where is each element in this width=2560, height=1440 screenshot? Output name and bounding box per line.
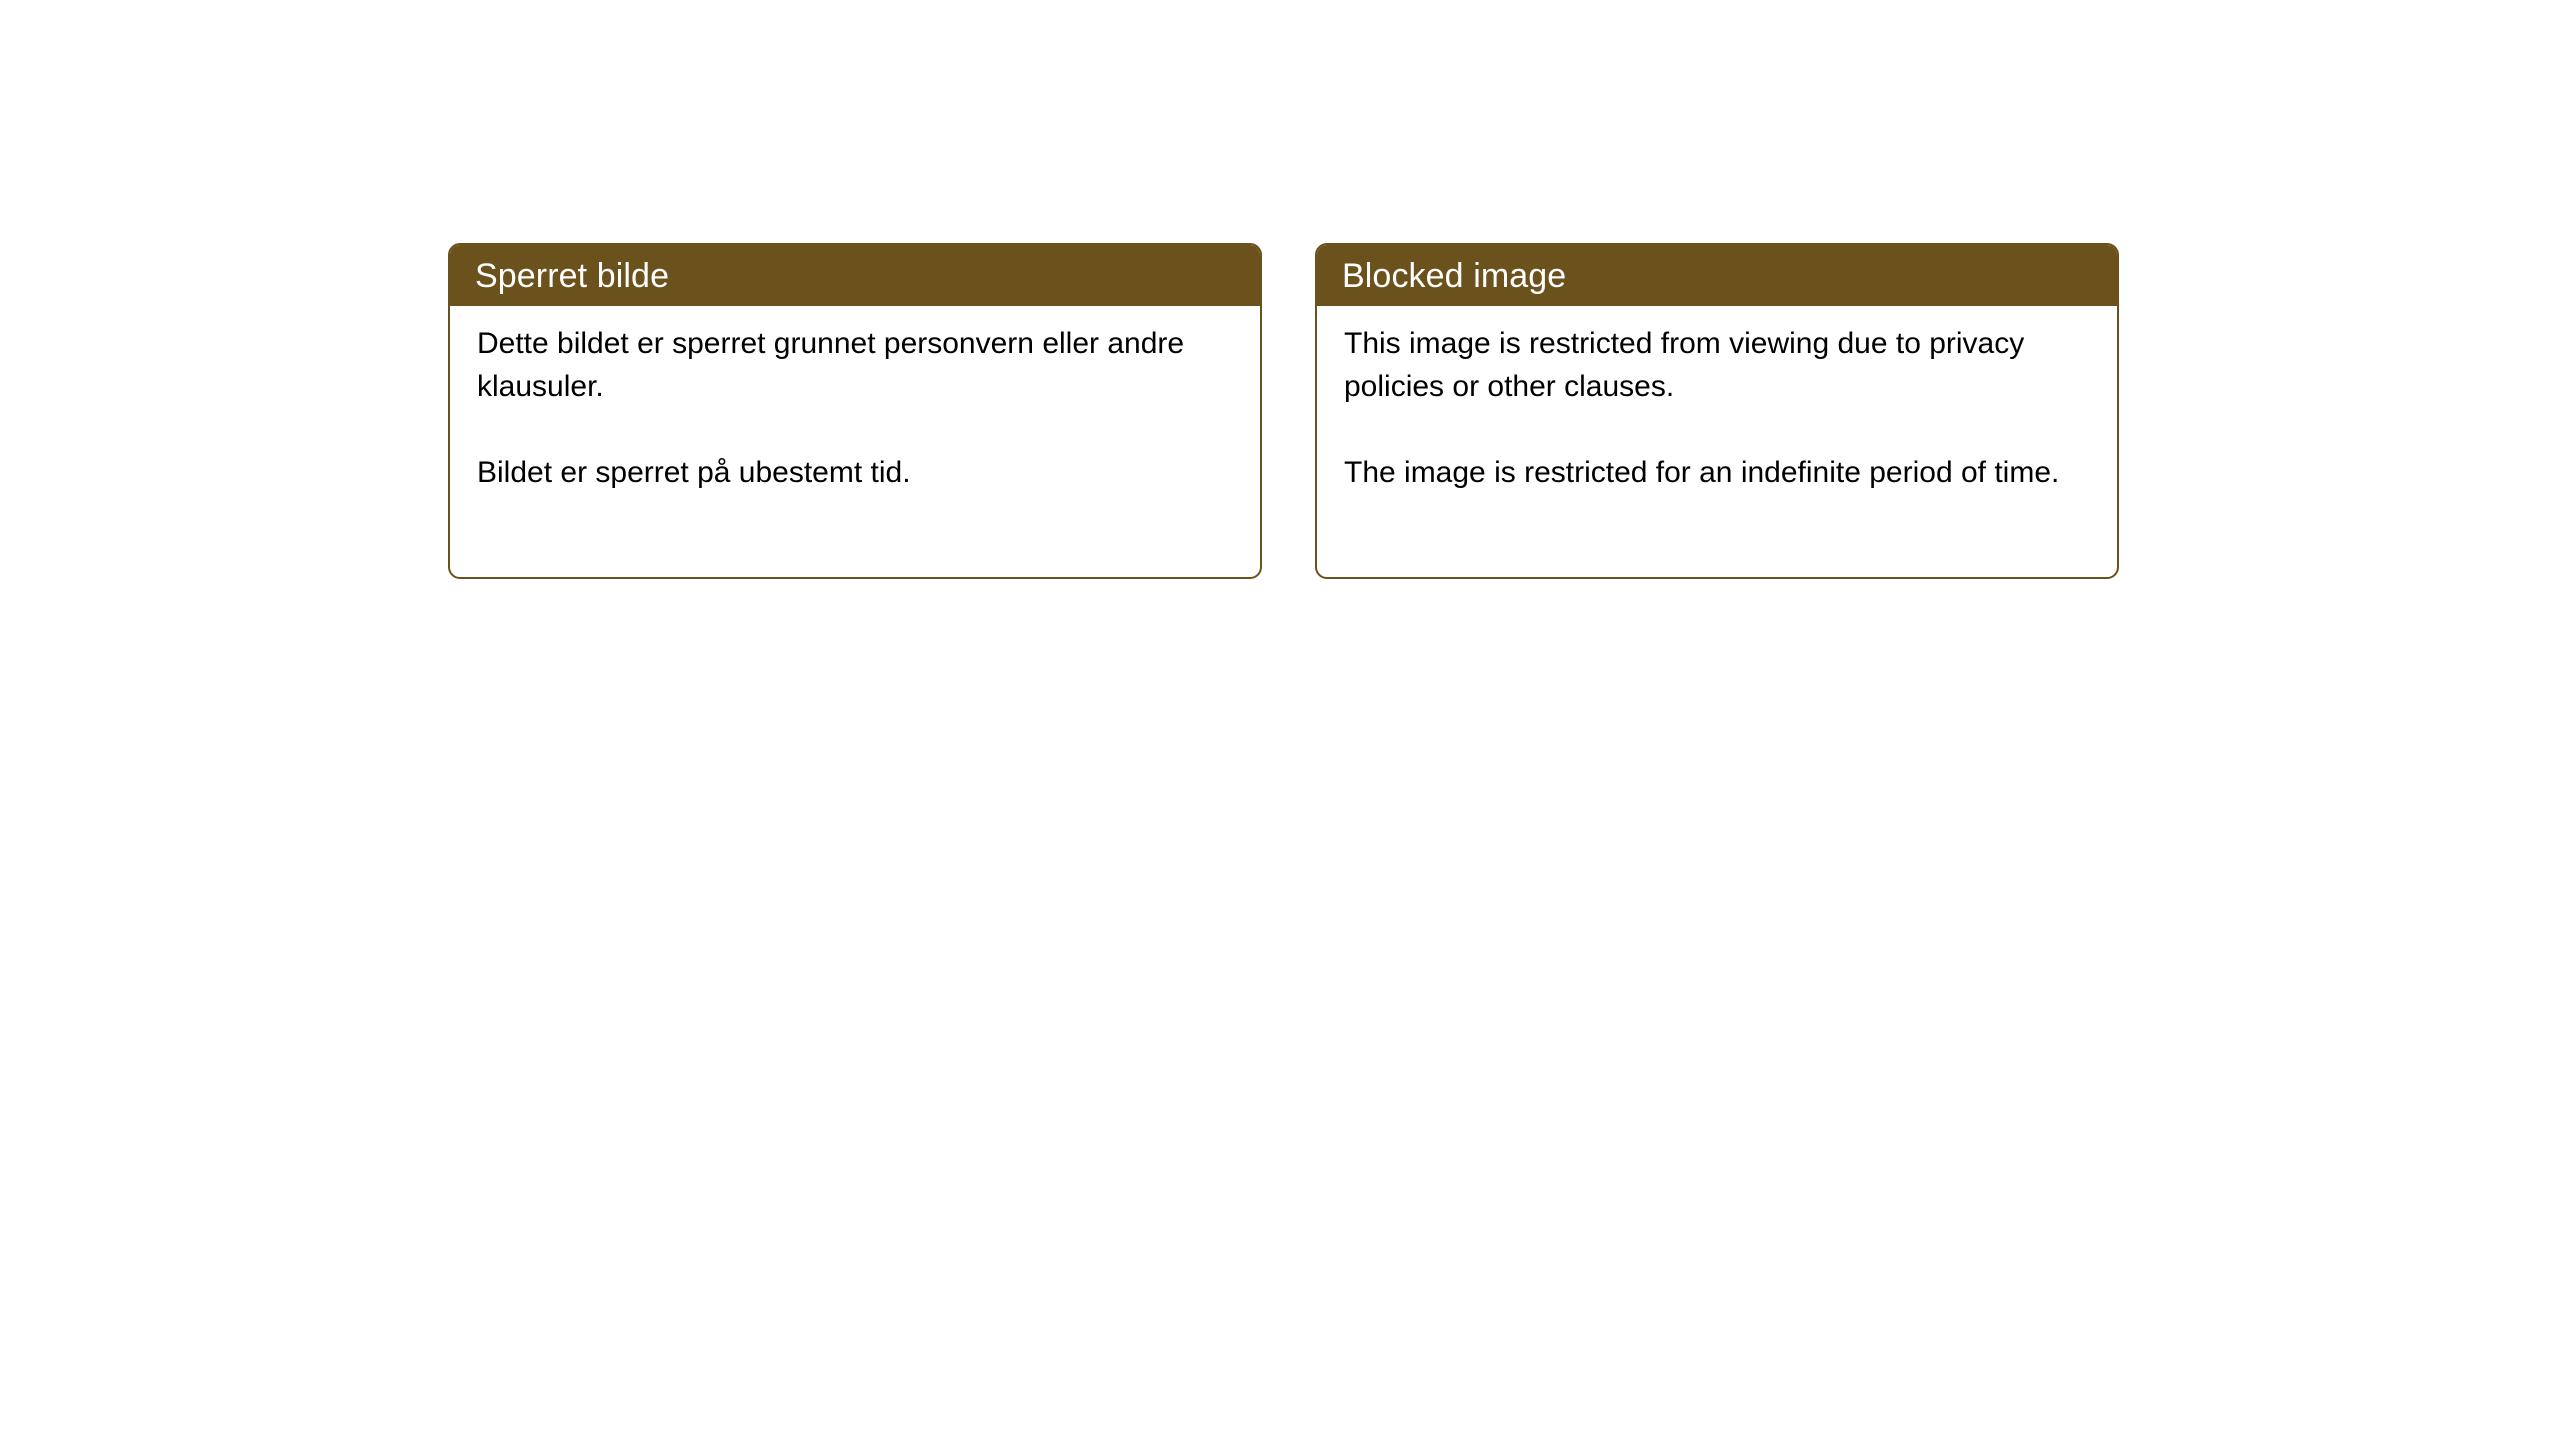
panel-paragraph-norwegian-2: Bildet er sperret på ubestemt tid. — [477, 451, 1232, 494]
panel-paragraph-english-2: The image is restricted for an indefinit… — [1344, 451, 2089, 494]
blocked-image-notice-english: Blocked image This image is restricted f… — [1315, 243, 2119, 579]
panel-body-norwegian: Dette bildet er sperret grunnet personve… — [450, 306, 1260, 494]
page-canvas: Sperret bilde Dette bildet er sperret gr… — [0, 0, 2560, 1440]
panel-paragraph-english-1: This image is restricted from viewing du… — [1344, 322, 2089, 408]
panel-header-english: Blocked image — [1317, 245, 2117, 306]
panel-header-norwegian: Sperret bilde — [450, 245, 1260, 306]
blocked-image-notice-norwegian: Sperret bilde Dette bildet er sperret gr… — [448, 243, 1262, 579]
panel-title-english: Blocked image — [1342, 259, 1566, 293]
panel-title-norwegian: Sperret bilde — [475, 259, 669, 293]
panel-paragraph-norwegian-1: Dette bildet er sperret grunnet personve… — [477, 322, 1232, 408]
panel-body-english: This image is restricted from viewing du… — [1317, 306, 2117, 494]
